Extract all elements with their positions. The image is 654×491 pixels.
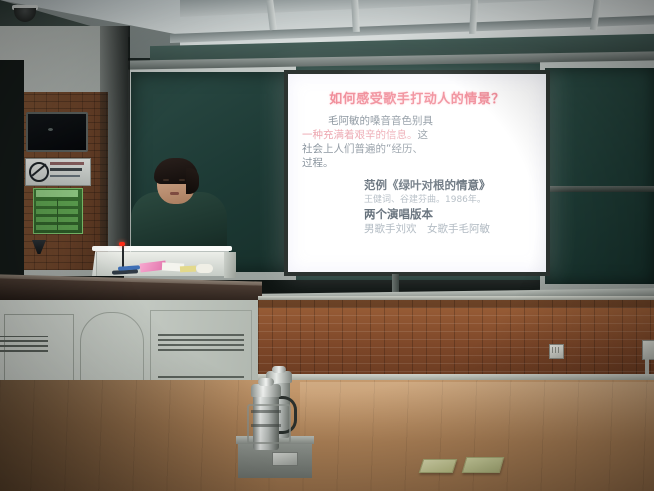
no-smoking-subtext — [50, 175, 80, 177]
slide-body-line-1: 毛阿敏的嗓音音色别具 — [302, 114, 530, 128]
slide-body-line-2-highlight: 一种充满着艰辛的信息。 — [302, 129, 418, 141]
desk-microphone[interactable] — [122, 245, 124, 267]
desk-mouse[interactable] — [196, 264, 213, 273]
projection-screen[interactable]: 如何感受歌手打动人的情景？ 毛阿敏的嗓音音色别具 一种充满着艰辛的信息。这 社会… — [288, 74, 546, 272]
floor-paper[interactable] — [419, 459, 458, 473]
wall-junction-box[interactable] — [642, 340, 654, 360]
thermos-stand-label — [272, 452, 298, 466]
emergency-phone-divider — [57, 199, 58, 231]
slide-body-line-2-rest: 这 — [418, 129, 429, 141]
classroom-scene: 如何感受歌手打动人的情景？ 毛阿敏的嗓音音色别具 一种充满着艰辛的信息。这 社会… — [0, 0, 654, 491]
slide-example-credit: 王健词、谷建芬曲。1986年。 — [364, 193, 542, 208]
slide-body-line-1-text: 毛阿敏的嗓音音色别具 — [328, 115, 433, 127]
microphone-led-icon — [119, 242, 125, 246]
slide-title: 如何感受歌手打动人的情景？ — [288, 88, 546, 107]
floor-paper[interactable] — [462, 457, 505, 473]
lectern-side — [224, 252, 236, 278]
thermos-flask-back-knob[interactable] — [272, 366, 286, 373]
slide-example-block: 范例《绿叶对根的情意》 王健词、谷建芬曲。1986年。 两个演唱版本 男歌手刘欢… — [364, 178, 542, 236]
presenter-mouth — [170, 192, 179, 195]
slide-singers: 男歌手刘欢 女歌手毛阿敏 — [364, 222, 542, 237]
no-smoking-text-cn — [50, 162, 84, 165]
presenter-eye — [163, 179, 169, 181]
slide-versions-heading: 两个演唱版本 — [364, 207, 542, 222]
thermos-flask-front-knob[interactable] — [258, 378, 274, 386]
right-blackboard-rail — [545, 186, 654, 192]
cabinet-vent — [158, 334, 244, 351]
slide-example-heading: 范例《绿叶对根的情意》 — [364, 178, 542, 193]
presenter-eye — [179, 179, 185, 181]
left-dark-recess — [0, 60, 24, 276]
lectern-rim — [92, 246, 232, 251]
slide-body-line-2: 一种充满着艰辛的信息。这 — [302, 128, 530, 142]
no-smoking-text-en — [50, 168, 82, 171]
floor-sheen — [300, 382, 654, 442]
slide-body-line-4: 过程。 — [302, 156, 530, 170]
thermos-flask-guard — [247, 404, 291, 444]
monitor-glint — [48, 128, 53, 131]
cabinet-vent — [0, 336, 48, 352]
right-blackboard — [545, 68, 654, 284]
brick-wall-shadow — [258, 300, 654, 308]
slide-body: 毛阿敏的嗓音音色别具 一种充满着艰辛的信息。这 社会上人们普遍的“经历、 过程。 — [302, 114, 530, 170]
wall-monitor[interactable] — [26, 112, 88, 152]
desk-paper-yellow[interactable] — [180, 266, 196, 273]
slide-body-line-3: 社会上人们普遍的“经历、 — [302, 142, 530, 156]
emergency-phone-sign-title — [36, 190, 78, 197]
wall-outlet-slots — [552, 347, 559, 353]
brick-wall — [258, 300, 654, 380]
left-pillar-shadow — [100, 26, 130, 276]
